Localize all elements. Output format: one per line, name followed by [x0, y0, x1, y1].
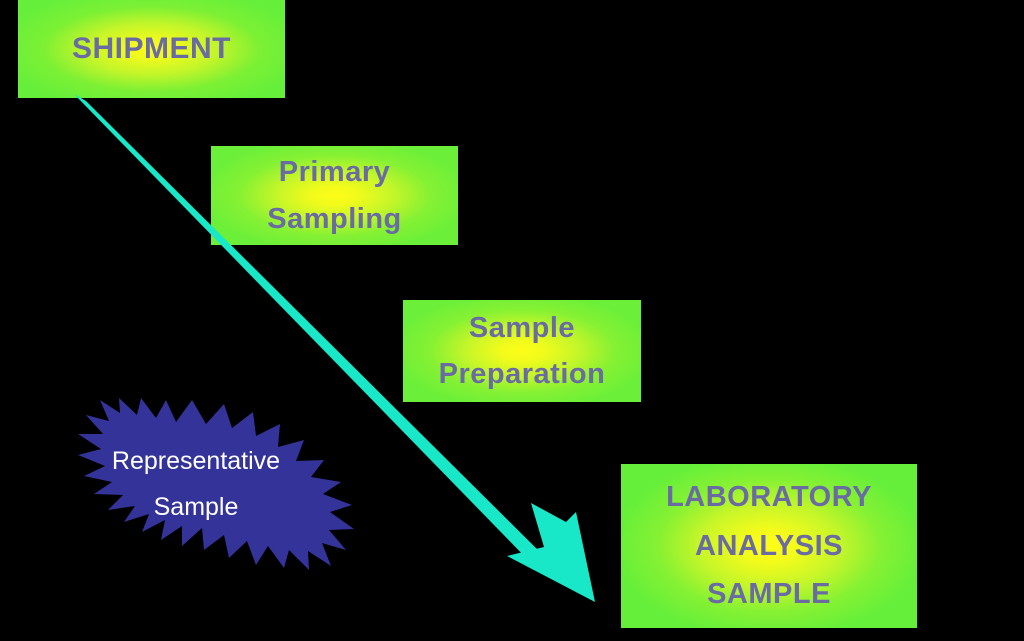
box-sample-preparation-line-2: Preparation	[403, 351, 641, 397]
box-laboratory-analysis-sample-line-3: SAMPLE	[621, 570, 917, 618]
representative-sample-starburst	[0, 398, 388, 570]
box-shipment[interactable]: SHIPMENT	[18, 0, 285, 98]
box-laboratory-analysis-sample-line-1: LABORATORY	[621, 473, 917, 521]
box-shipment-line-1: SHIPMENT	[18, 32, 285, 66]
box-laboratory-analysis-sample-line-2: ANALYSIS	[621, 522, 917, 570]
box-laboratory-analysis-sample[interactable]: LABORATORY ANALYSIS SAMPLE	[621, 464, 917, 628]
box-primary-sampling-line-2: Sampling	[211, 196, 458, 242]
diagram-canvas: Representative Sample SHIPMENT Primary S…	[0, 0, 1024, 641]
box-sample-preparation[interactable]: Sample Preparation	[403, 300, 641, 402]
box-primary-sampling[interactable]: Primary Sampling	[211, 146, 458, 245]
box-primary-sampling-line-1: Primary	[211, 149, 458, 195]
box-sample-preparation-line-1: Sample	[403, 305, 641, 351]
